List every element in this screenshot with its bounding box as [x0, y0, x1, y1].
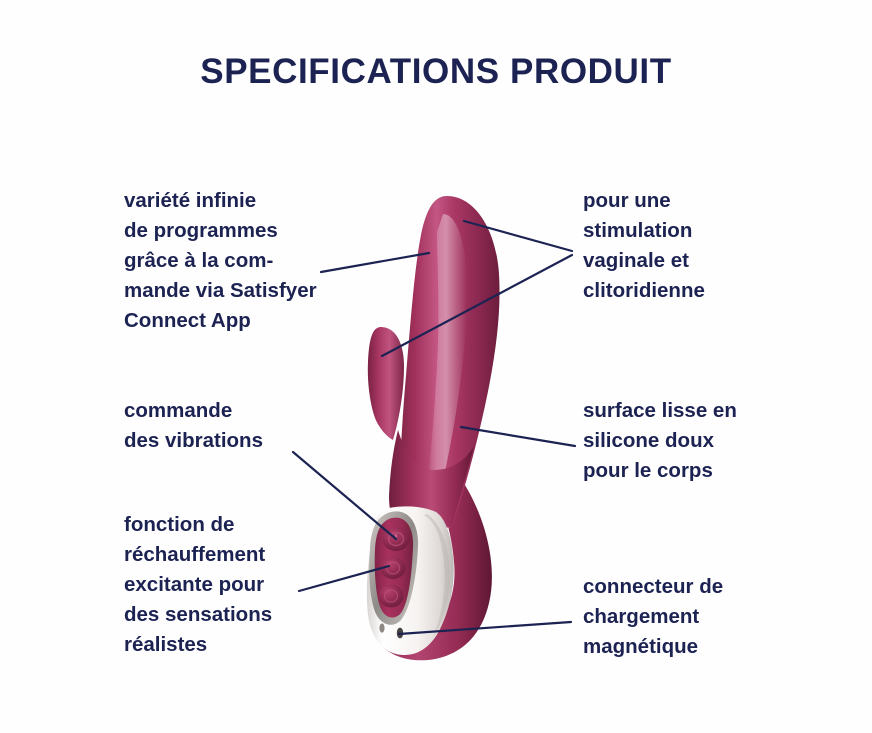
callout-commande: commande des vibrations: [124, 396, 389, 456]
callout-stimulation: pour une stimulation vaginale et clitori…: [583, 186, 843, 306]
callout-surface: surface lisse en silicone doux pour le c…: [583, 396, 843, 486]
callout-programmes: variété infinie de programmes grâce à la…: [124, 186, 389, 336]
callout-connecteur: connecteur de chargement magnétique: [583, 572, 843, 662]
leader-line-surface: [461, 427, 575, 446]
product-specification-diagram: SPECIFICATIONS PRODUIT: [0, 0, 872, 733]
leader-line-stimulation-shaft: [464, 221, 572, 251]
leader-line-stimulation-arm: [382, 255, 572, 356]
leader-line-connecteur: [399, 622, 571, 634]
callout-chauffe: fonction de réchauffement excitante pour…: [124, 510, 389, 660]
